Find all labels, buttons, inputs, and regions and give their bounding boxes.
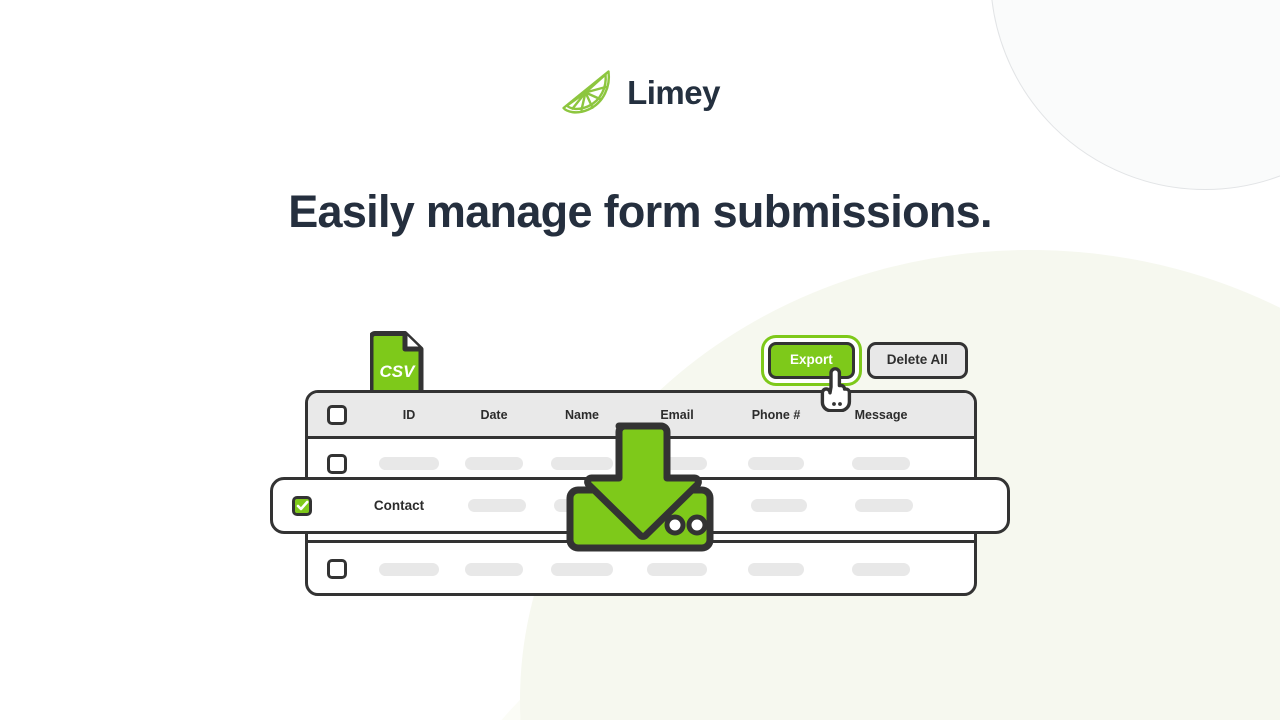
cell-phone xyxy=(726,457,826,470)
delete-all-button[interactable]: Delete All xyxy=(867,342,968,379)
skeleton-pill xyxy=(379,563,439,576)
page-headline: Easily manage form submissions. xyxy=(0,186,1280,238)
row-checkbox[interactable] xyxy=(308,559,366,579)
cell-phone xyxy=(726,563,826,576)
skeleton-pill xyxy=(379,457,439,470)
cell-name xyxy=(536,563,628,576)
cell-id xyxy=(366,457,452,470)
brand-name: Limey xyxy=(627,76,720,109)
cell-date xyxy=(452,563,536,576)
checkbox-icon xyxy=(327,559,347,579)
skeleton-pill xyxy=(465,563,523,576)
table-toolbar: Export Delete All xyxy=(768,342,968,379)
lime-wedge-icon xyxy=(560,66,614,118)
cell-message xyxy=(826,457,936,470)
pointing-hand-cursor-icon xyxy=(820,366,854,412)
brand-logo[interactable]: Limey xyxy=(0,66,1280,118)
skeleton-pill xyxy=(852,457,910,470)
skeleton-pill xyxy=(852,563,910,576)
checkbox-icon xyxy=(327,454,347,474)
cell-phone xyxy=(729,499,829,512)
skeleton-pill xyxy=(748,457,804,470)
skeleton-pill xyxy=(465,457,523,470)
cell-message xyxy=(826,563,936,576)
select-all-checkbox[interactable] xyxy=(308,405,366,425)
cell-email xyxy=(628,563,726,576)
column-header-date[interactable]: Date xyxy=(452,408,536,422)
skeleton-pill xyxy=(551,563,613,576)
row-checkbox[interactable] xyxy=(308,454,366,474)
cell-id xyxy=(366,563,452,576)
skeleton-pill xyxy=(751,499,807,512)
selected-row-cells xyxy=(455,499,1007,512)
submissions-table-illustration: Export Delete All CSV ID Date Name Email xyxy=(270,322,1010,612)
skeleton-pill xyxy=(855,499,913,512)
cell-message xyxy=(829,499,939,512)
skeleton-pill xyxy=(468,499,526,512)
checkbox-checked-icon xyxy=(292,496,312,516)
skeleton-pill xyxy=(647,563,707,576)
checkbox-icon xyxy=(327,405,347,425)
column-header-phone[interactable]: Phone # xyxy=(726,408,826,422)
svg-text:CSV: CSV xyxy=(380,362,417,381)
column-header-id[interactable]: ID xyxy=(366,408,452,422)
row-checkbox-selected[interactable] xyxy=(273,496,331,516)
landing-page: Limey Easily manage form submissions. Ex… xyxy=(0,0,1280,720)
column-header-email[interactable]: Email xyxy=(628,408,726,422)
selected-row-label: Contact xyxy=(343,498,455,513)
cell-date xyxy=(452,457,536,470)
download-arrow-icon xyxy=(566,422,714,552)
column-header-name[interactable]: Name xyxy=(536,408,628,422)
skeleton-pill xyxy=(748,563,804,576)
cell-date xyxy=(455,499,539,512)
